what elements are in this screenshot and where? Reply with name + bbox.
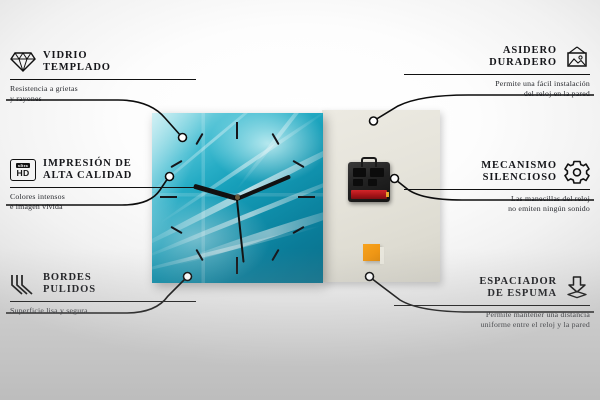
- feature-description: Superficie lisa y segura: [10, 306, 196, 316]
- mechanism-detail: [353, 168, 366, 177]
- feature-foam-spacer: ESPACIADOR DE ESPUMA Permite mantener un…: [394, 276, 590, 330]
- clock-center-pin: [235, 195, 240, 200]
- clock-tick-3: [298, 196, 315, 198]
- feature-divider: [10, 79, 196, 81]
- feature-description: Permite mantener una distancia uniforme …: [394, 310, 590, 329]
- feature-description: Las manecillas del reloj no emiten ningú…: [404, 194, 590, 213]
- feature-title: MECANISMO SILENCIOSO: [481, 160, 557, 185]
- feature-description: Resistencia a grietas y rayones: [10, 84, 196, 103]
- feature-title: IMPRESIÓN DE ALTA CALIDAD: [43, 158, 132, 183]
- gear-icon: [564, 160, 590, 184]
- hanger-hook-icon: [361, 157, 377, 167]
- feature-header: VIDRIO TEMPLADO: [10, 50, 196, 75]
- framed-picture-icon: [564, 45, 590, 69]
- feature-description: Colores intensos e imagen vívida: [10, 192, 196, 211]
- feature-header: ultra HD IMPRESIÓN DE ALTA CALIDAD: [10, 158, 196, 183]
- ultra-hd-badge: ultra HD: [10, 159, 36, 181]
- ultra-hd-icon: ultra HD: [10, 158, 36, 182]
- mechanism-detail: [353, 179, 363, 186]
- diamond-icon: [10, 50, 36, 74]
- feature-title: BORDES PULIDOS: [43, 272, 96, 297]
- feature-divider: [404, 189, 590, 191]
- feature-title: ASIDERO DURADERO: [489, 45, 557, 70]
- foam-spacer-edge: [380, 247, 384, 264]
- feature-divider: [404, 74, 590, 76]
- ultra-hd-badge-bottom: HD: [16, 169, 29, 178]
- feature-title: VIDRIO TEMPLADO: [43, 50, 111, 75]
- feature-silent-mechanism: MECANISMO SILENCIOSO Las manecillas del …: [404, 160, 590, 214]
- feature-header: ASIDERO DURADERO: [404, 45, 590, 70]
- battery-terminal: [386, 192, 389, 197]
- feature-header: ESPACIADOR DE ESPUMA: [394, 276, 590, 301]
- polished-lines-icon: [10, 272, 36, 296]
- feature-hd-print: ultra HD IMPRESIÓN DE ALTA CALIDAD Color…: [10, 158, 196, 212]
- feature-divider: [10, 301, 196, 303]
- feature-tempered-glass: VIDRIO TEMPLADO Resistencia a grietas y …: [10, 50, 196, 104]
- feature-header: MECANISMO SILENCIOSO: [404, 160, 590, 185]
- feature-description: Permite una fácil instalación del reloj …: [404, 79, 590, 98]
- feature-divider: [10, 187, 196, 189]
- feature-title: ESPACIADOR DE ESPUMA: [479, 276, 557, 301]
- infographic-canvas: VIDRIO TEMPLADO Resistencia a grietas y …: [0, 0, 600, 400]
- press-down-arrow-icon: [564, 276, 590, 300]
- feature-divider: [394, 305, 590, 307]
- mechanism-detail: [368, 179, 377, 186]
- mechanism-detail: [370, 168, 384, 177]
- clock-tick-12: [236, 122, 238, 139]
- foam-spacer-piece: [363, 244, 380, 261]
- clock-tick-6: [236, 257, 238, 274]
- feature-durable-hanger: ASIDERO DURADERO Permite una fácil insta…: [404, 45, 590, 99]
- clock-mechanism: [348, 162, 390, 202]
- battery: [351, 190, 387, 199]
- feature-header: BORDES PULIDOS: [10, 272, 196, 297]
- feature-polished-edges: BORDES PULIDOS Superficie lisa y segura: [10, 272, 196, 316]
